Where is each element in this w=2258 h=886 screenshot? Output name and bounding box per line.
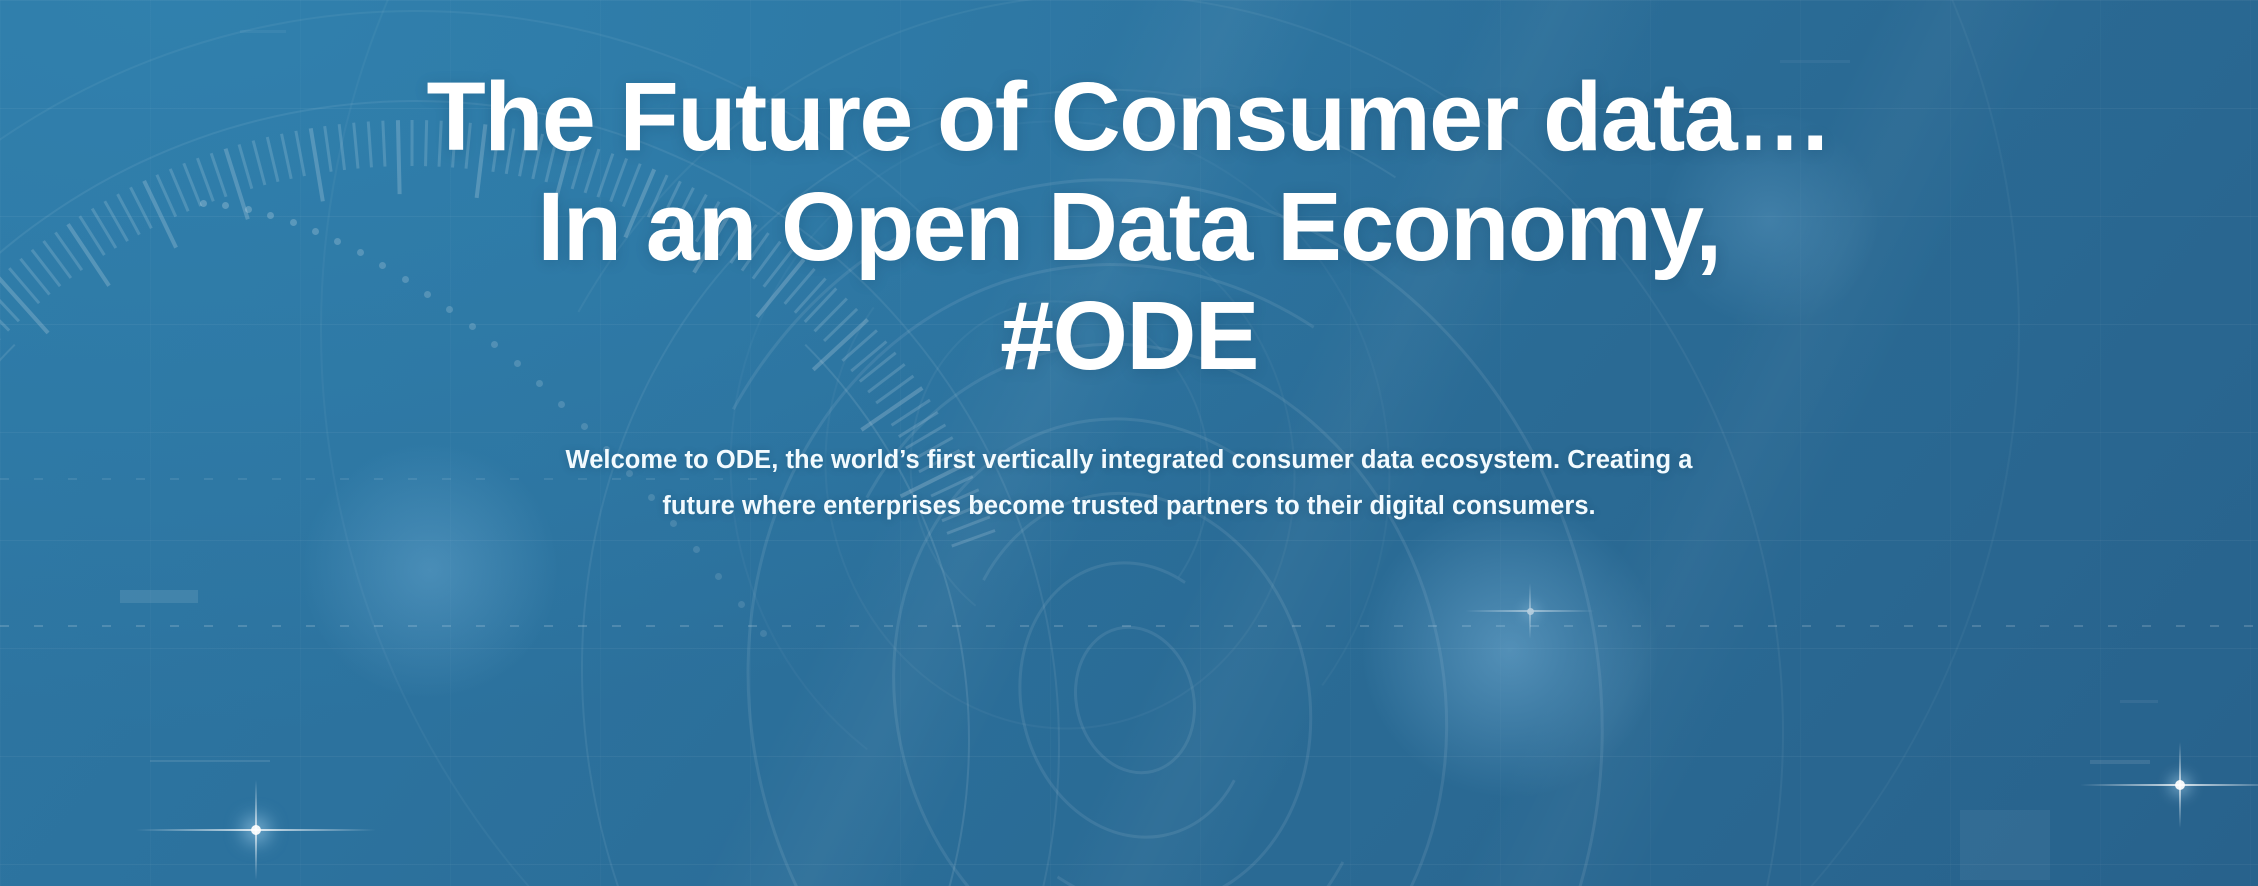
hero-subtitle: Welcome to ODE, the world’s first vertic…: [529, 437, 1729, 530]
subtitle-line-1: Welcome to ODE, the world’s first vertic…: [566, 446, 1561, 474]
headline-line-2: In an Open Data Economy,: [49, 172, 2209, 282]
headline-line-1: The Future of Consumer data…: [49, 62, 2209, 172]
hero-banner: The Future of Consumer data… In an Open …: [0, 0, 2258, 886]
subtitle-line-3: consumers.: [1452, 492, 1596, 520]
page-title: The Future of Consumer data… In an Open …: [49, 62, 2209, 391]
headline-line-3: #ODE: [49, 281, 2209, 391]
hero-content: The Future of Consumer data… In an Open …: [0, 0, 2258, 886]
